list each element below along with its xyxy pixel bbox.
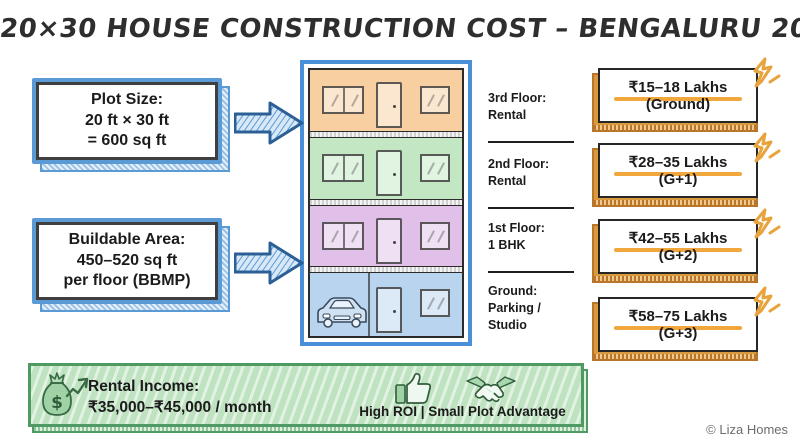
door-icon [376, 287, 402, 333]
floor-label-ground-line1: Ground: [488, 283, 584, 300]
credit-text: © Liza Homes [706, 422, 788, 437]
floor-label-second-line2: Rental [488, 173, 584, 190]
cost-card-g2[interactable]: ₹42–55 Lakhs (G+2) [598, 219, 758, 274]
floor-label-ground: Ground: Parking / Studio [488, 283, 584, 333]
floor-label-first-line1: 1st Floor: [488, 220, 584, 237]
cost-card-g3[interactable]: ₹58–75 Lakhs (G+3) [598, 297, 758, 352]
money-bag-growth-icon: $ [36, 370, 92, 422]
spark-icon [752, 285, 782, 319]
plot-size-line-3: = 600 sq ft [88, 131, 167, 151]
door-icon [376, 150, 402, 196]
window-icon [322, 86, 364, 114]
buildable-area-line-2: 450–520 sq ft [77, 251, 178, 271]
floor-label-second-line1: 2nd Floor: [488, 156, 584, 173]
spark-icon [752, 131, 782, 165]
window-icon [420, 289, 450, 317]
label-divider [488, 271, 574, 273]
window-icon [420, 222, 450, 250]
label-divider [488, 207, 574, 209]
floor-label-third: 3rd Floor: Rental [488, 90, 584, 124]
window-icon [322, 154, 364, 182]
house-floor-third [310, 70, 462, 138]
floor-label-first: 1st Floor: 1 BHK [488, 220, 584, 254]
label-divider [488, 141, 574, 143]
buildable-area-line-1: Buildable Area: [69, 230, 186, 250]
floor-label-second: 2nd Floor: Rental [488, 156, 584, 190]
window-icon [420, 154, 450, 182]
house-floor-ground [310, 273, 462, 336]
buildable-area-line-3: per floor (BBMP) [63, 271, 190, 291]
door-icon [376, 218, 402, 264]
cost-card-ground-amount: ₹15–18 Lakhs [629, 78, 728, 96]
window-icon [322, 222, 364, 250]
plot-size-line-1: Plot Size: [91, 90, 163, 110]
plot-size-box: Plot Size: 20 ft × 30 ft = 600 sq ft [36, 82, 218, 160]
infographic-canvas: 20×30 HOUSE CONSTRUCTION COST – BENGALUR… [0, 0, 800, 447]
page-title: 20×30 HOUSE CONSTRUCTION COST – BENGALUR… [0, 14, 800, 44]
handshake-icon [465, 372, 517, 406]
floor-label-third-line2: Rental [488, 107, 584, 124]
cost-card-g1-config: (G+1) [659, 171, 698, 188]
arrow-right-icon-2 [234, 241, 304, 285]
cost-card-g3-config: (G+3) [659, 325, 698, 342]
cost-card-g1[interactable]: ₹28–35 Lakhs (G+1) [598, 143, 758, 198]
spark-icon [752, 56, 782, 90]
house-illustration [308, 68, 464, 338]
cost-card-g1-amount: ₹28–35 Lakhs [629, 153, 728, 171]
rental-income-text: Rental Income: ₹35,000–₹45,000 / month [88, 377, 271, 419]
cost-card-ground[interactable]: ₹15–18 Lakhs (Ground) [598, 68, 758, 123]
cost-card-g2-config: (G+2) [659, 247, 698, 264]
rental-income-label: Rental Income: [88, 377, 271, 398]
floor-label-ground-line3: Studio [488, 317, 584, 334]
buildable-area-box: Buildable Area: 450–520 sq ft per floor … [36, 222, 218, 300]
door-icon [376, 82, 402, 128]
floor-label-third-line1: 3rd Floor: [488, 90, 584, 107]
house-floor-second [310, 138, 462, 206]
cost-card-g2-amount: ₹42–55 Lakhs [629, 229, 728, 247]
cost-card-g3-amount: ₹58–75 Lakhs [629, 307, 728, 325]
thumbs-up-icon [393, 372, 433, 406]
floor-label-ground-line2: Parking / [488, 300, 584, 317]
roi-text: High ROI | Small Plot Advantage [355, 404, 570, 419]
arrow-right-icon-1 [234, 101, 304, 145]
spark-icon [752, 207, 782, 241]
svg-text:$: $ [51, 393, 63, 413]
floor-label-first-line2: 1 BHK [488, 237, 584, 254]
plot-size-line-2: 20 ft × 30 ft [85, 111, 169, 131]
house-floor-first [310, 206, 462, 274]
floor-labels: 3rd Floor: Rental 2nd Floor: Rental 1st … [488, 60, 584, 346]
car-icon [314, 296, 370, 330]
rental-income-value: ₹35,000–₹45,000 / month [88, 398, 271, 419]
cost-card-ground-config: (Ground) [646, 96, 710, 113]
window-icon [420, 86, 450, 114]
